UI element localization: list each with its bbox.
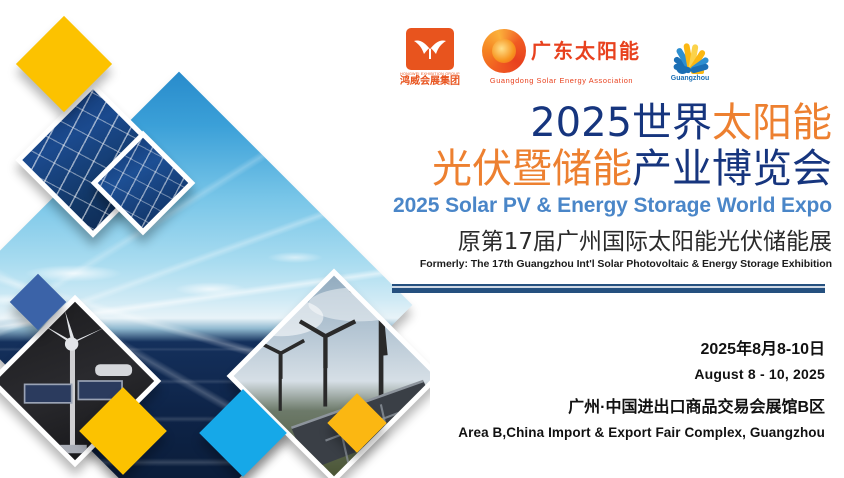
subtitle-english: Formerly: The 17th Guangzhou Int'l Solar…	[380, 256, 832, 272]
subtitle-chinese: 原第17届广州国际太阳能光伏储能展	[380, 228, 832, 256]
venue-chinese: 广州·中国进出口商品交易会展馆B区	[400, 395, 825, 421]
hongwei-wings-icon	[406, 28, 454, 70]
title-line-1-orange: 太阳能	[712, 100, 832, 146]
title-line-1: 2025世界太阳能	[380, 100, 832, 146]
title-line-2-navy: 产业博览会	[632, 146, 832, 192]
pv-guangzhou-logo: P V Guangzhou	[663, 33, 717, 82]
date-block: 2025年8月8-10日 August 8 - 10, 2025	[400, 338, 825, 386]
title-block: 2025世界太阳能 光伏暨储能产业博览会 2025 Solar PV & Ene…	[380, 100, 832, 219]
sun-burst-icon	[663, 33, 717, 73]
gdsolar-chinese-name: 广东太阳能	[531, 41, 641, 61]
title-line-2-orange: 光伏暨储能	[432, 146, 632, 192]
pv-guangzhou-caption: Guangzhou	[671, 75, 710, 82]
date-chinese: 2025年8月8-10日	[400, 338, 825, 362]
solar-swirl-icon	[482, 29, 526, 73]
divider-line-bottom	[392, 288, 825, 293]
venue-english: Area B,China Import & Export Fair Comple…	[400, 421, 825, 445]
date-english: August 8 - 10, 2025	[400, 362, 825, 386]
wings-glyph	[412, 36, 448, 62]
title-line-2: 光伏暨储能产业博览会	[380, 146, 832, 192]
divider	[392, 284, 825, 293]
gdsolar-english-name: Guangdong Solar Energy Association	[490, 76, 633, 85]
title-english: 2025 Solar PV & Energy Storage World Exp…	[380, 193, 832, 219]
hongwei-exhibition-group-logo: HONGWEI EXHIBITION GROUP 鸿威会展集团	[400, 28, 460, 87]
hongwei-english-name: HONGWEI EXHIBITION GROUP	[400, 71, 460, 76]
guangdong-solar-energy-association-logo: 广东太阳能 Guangdong Solar Energy Association	[482, 29, 641, 85]
title-line-1-navy: 2025世界	[530, 100, 712, 146]
artwork-collage	[0, 0, 430, 478]
subtitle-block: 原第17届广州国际太阳能光伏储能展 Formerly: The 17th Gua…	[380, 228, 832, 272]
expo-poster: HONGWEI EXHIBITION GROUP 鸿威会展集团 广东太阳能 Gu…	[0, 0, 844, 478]
venue-block: 广州·中国进出口商品交易会展馆B区 Area B,China Import & …	[400, 395, 825, 445]
hongwei-chinese-name: 鸿威会展集团	[400, 76, 460, 87]
logo-row: HONGWEI EXHIBITION GROUP 鸿威会展集团 广东太阳能 Gu…	[400, 24, 830, 90]
